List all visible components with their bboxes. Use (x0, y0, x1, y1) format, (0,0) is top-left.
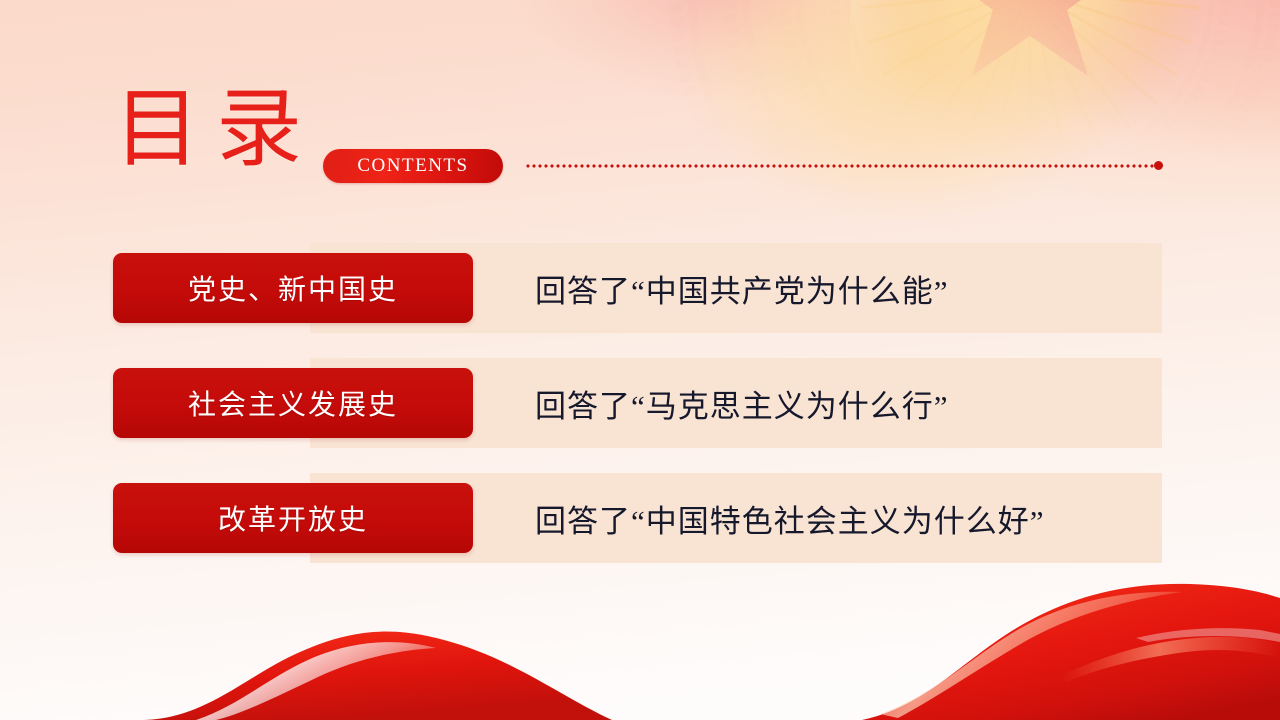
row-label-text: 党史、新中国史 (188, 268, 398, 308)
row-label-pill[interactable]: 党史、新中国史 (113, 253, 473, 323)
row-description: 回答了“马克思主义为什么行” (535, 358, 949, 448)
red-ribbon-wave-decoration (0, 580, 1280, 720)
page-title: 目录 (114, 86, 318, 172)
row-label-text: 改革开放史 (218, 498, 368, 538)
row-label-pill[interactable]: 社会主义发展史 (113, 368, 473, 438)
list-item[interactable]: 改革开放史 回答了“中国特色社会主义为什么好” (0, 473, 1280, 563)
slide-header: 目录 CONTENTS (0, 0, 1280, 200)
row-label-text: 社会主义发展史 (188, 383, 398, 423)
row-description: 回答了“中国共产党为什么能” (535, 243, 949, 333)
presentation-slide: 目录 CONTENTS 党史、新中国史 回答了“中国共产党为什么能” 社会主义发… (0, 0, 1280, 720)
dotted-divider-end-dot (1154, 161, 1163, 170)
row-description: 回答了“中国特色社会主义为什么好” (535, 473, 1045, 563)
row-label-pill[interactable]: 改革开放史 (113, 483, 473, 553)
contents-badge-label: CONTENTS (357, 155, 468, 177)
contents-badge: CONTENTS (323, 149, 503, 183)
list-item[interactable]: 党史、新中国史 回答了“中国共产党为什么能” (0, 243, 1280, 333)
list-item[interactable]: 社会主义发展史 回答了“马克思主义为什么行” (0, 358, 1280, 448)
dotted-divider (525, 164, 1155, 168)
contents-list: 党史、新中国史 回答了“中国共产党为什么能” 社会主义发展史 回答了“马克思主义… (0, 243, 1280, 588)
